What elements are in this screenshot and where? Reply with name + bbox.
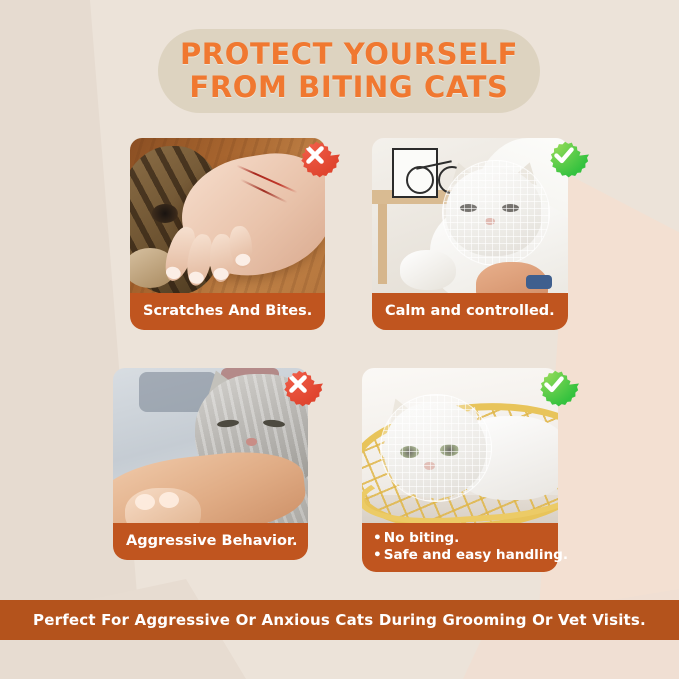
- title-pill: PROTECT YOURSELF FROM BITING CATS: [158, 29, 540, 113]
- card-calm-and-controlled: Calm and controlled.: [372, 138, 568, 330]
- card-caption-scratches-and-bites: Scratches And Bites.: [130, 293, 325, 330]
- caption-line: Safe and easy handling.: [373, 547, 548, 564]
- title-line-2: FROM BITING CATS: [180, 71, 518, 104]
- caption-line: Calm and controlled.: [385, 302, 556, 320]
- card-photo-aggressive-behavior: [113, 368, 308, 523]
- card-photo-no-biting-safe-handling: [362, 368, 558, 523]
- card-caption-calm-and-controlled: Calm and controlled.: [372, 293, 568, 330]
- banner-text: Perfect For Aggressive Or Anxious Cats D…: [33, 611, 646, 629]
- blue-object: [526, 275, 552, 289]
- mesh-muzzle: [442, 160, 550, 266]
- shelf-leg: [378, 204, 387, 284]
- card-no-biting-safe-handling: No biting. Safe and easy handling.: [362, 368, 558, 572]
- poster: PROTECT YOURSELF FROM BITING CATS Scratc…: [0, 0, 679, 679]
- card-photo-scratches-and-bites: [130, 138, 325, 293]
- cat-paw: [400, 250, 456, 290]
- title-line-1: PROTECT YOURSELF: [180, 38, 518, 71]
- knuckle: [135, 494, 155, 510]
- bottom-banner: Perfect For Aggressive Or Anxious Cats D…: [0, 600, 679, 640]
- card-caption-aggressive-behavior: Aggressive Behavior.: [113, 523, 308, 560]
- card-caption-no-biting-safe-handling: No biting. Safe and easy handling.: [362, 523, 558, 572]
- card-aggressive-behavior: Aggressive Behavior.: [113, 368, 308, 560]
- cat-eye: [152, 204, 178, 223]
- human-hand: [125, 488, 201, 523]
- knuckle: [159, 492, 179, 508]
- card-photo-calm-and-controlled: [372, 138, 568, 293]
- caption-line: Aggressive Behavior.: [126, 532, 296, 550]
- caption-line: Scratches And Bites.: [143, 302, 313, 320]
- card-scratches-and-bites: Scratches And Bites.: [130, 138, 325, 330]
- fingernail: [213, 268, 228, 281]
- cat-nose: [246, 438, 257, 446]
- page-title: PROTECT YOURSELF FROM BITING CATS: [180, 38, 518, 104]
- caption-line: No biting.: [373, 530, 548, 547]
